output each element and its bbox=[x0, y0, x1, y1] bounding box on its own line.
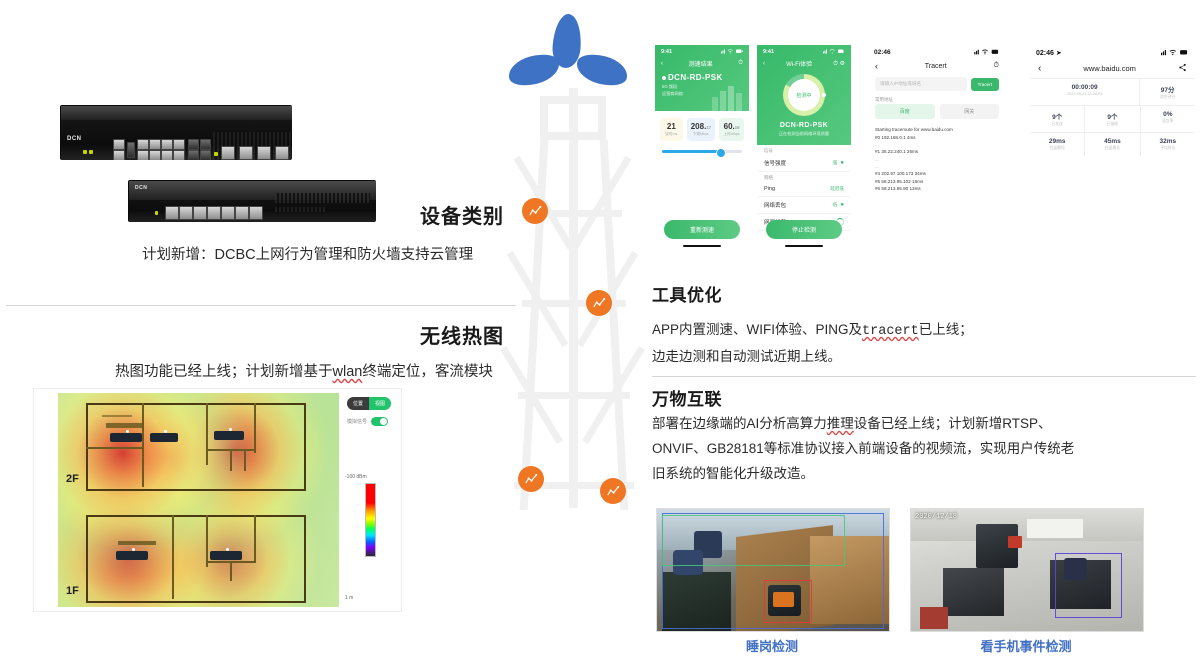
detection-box-sleeping-person bbox=[764, 580, 812, 623]
chart-analytics-badge-3[interactable] bbox=[518, 466, 544, 492]
caption-phone-usage-detection: 看手机事件检测 bbox=[910, 636, 1142, 655]
section-title-wireless-heatmap: 无线热图 bbox=[204, 320, 504, 349]
detection-box-phone-user bbox=[1055, 553, 1122, 618]
ai-detection-image-phone: 2020/12/18 bbox=[910, 508, 1144, 632]
chart-analytics-icon bbox=[606, 484, 620, 498]
dcn-logo: DCN bbox=[67, 136, 82, 142]
chart-analytics-icon bbox=[528, 204, 542, 218]
iot-line1-a: 部署在边缘端的AI分析高算力 bbox=[652, 416, 827, 431]
iot-line3: 旧系统的智能化升级改造。 bbox=[652, 462, 1200, 487]
iot-line2: ONVIF、GB28181等标准协议接入前端设备的视频流，实现用户传统老 bbox=[652, 437, 1200, 462]
legend-max-label: -100 dBm bbox=[345, 474, 367, 480]
section-title-device-category: 设备类别 bbox=[204, 200, 504, 229]
ap-marker bbox=[110, 433, 142, 442]
right-column: 工具优化 APP内置测速、WIFI体验、PING及tracert已上线； 边走边… bbox=[648, 0, 1200, 656]
toggle-option-view[interactable]: 视图 bbox=[369, 397, 391, 410]
wireless-heatmap-screenshot[interactable]: 2F 1F 位置 视图 模拟信号 -100 dBm - bbox=[33, 388, 402, 612]
heatmap-body-prefix: 热图功能已经上线；计划新增基于 bbox=[115, 364, 333, 380]
simulated-signal-row[interactable]: 模拟信号 bbox=[347, 417, 388, 426]
simulated-signal-toggle[interactable] bbox=[371, 417, 388, 426]
floor-label-2f: 2F bbox=[66, 473, 79, 485]
chart-analytics-badge-4[interactable] bbox=[600, 478, 626, 504]
section-body-iot: 部署在边缘端的AI分析高算力推理设备已经上线；计划新增RTSP、 ONVIF、G… bbox=[652, 412, 1200, 487]
toggle-option-position[interactable]: 位置 bbox=[347, 397, 369, 410]
signal-tower-graphic bbox=[500, 0, 650, 530]
ap-marker bbox=[150, 433, 178, 442]
heatmap-body-underlined: wlan bbox=[333, 364, 363, 380]
ap-marker bbox=[116, 551, 148, 560]
left-column: DCN DCN bbox=[0, 0, 540, 656]
floor-label-1f: 1F bbox=[66, 585, 79, 597]
section-title-tool-optimization: 工具优化 bbox=[652, 281, 722, 306]
chart-analytics-badge-2[interactable] bbox=[586, 290, 612, 316]
tool-line1-c: 已上线； bbox=[919, 322, 973, 337]
tool-line1-tracert: tracert bbox=[862, 324, 919, 339]
scale-note: 1 m bbox=[345, 595, 353, 601]
iot-line1-c: 设备已经上线；计划新增RTSP、 bbox=[854, 416, 1052, 431]
heatmap-view-toggle[interactable]: 位置 视图 bbox=[347, 397, 391, 410]
simulated-signal-label: 模拟信号 bbox=[347, 418, 367, 425]
ap-marker bbox=[210, 551, 242, 560]
chart-analytics-icon bbox=[524, 472, 538, 486]
chart-analytics-icon bbox=[592, 296, 606, 310]
heatmap-canvas: 2F 1F bbox=[58, 393, 339, 607]
overlay-timestamp: 2020/12/18 bbox=[915, 513, 957, 521]
tool-line2: 边走边测和自动测试近期上线。 bbox=[652, 345, 1192, 370]
right-divider bbox=[652, 376, 1196, 377]
ap-marker bbox=[214, 431, 244, 440]
iot-line1-inference: 推理 bbox=[827, 416, 854, 431]
chart-analytics-badge-1[interactable] bbox=[522, 198, 548, 224]
tool-line1-a: APP内置测速、WIFI体验、PING及 bbox=[652, 322, 862, 337]
signal-colorbar bbox=[365, 483, 376, 557]
heatmap-body-suffix: 终端定位，客流模块 bbox=[362, 364, 493, 380]
section-body-wireless-heatmap: 热图功能已经上线；计划新增基于wlan终端定位，客流模块 bbox=[115, 360, 545, 385]
dcn-logo-2: DCN bbox=[135, 185, 147, 191]
ai-detection-image-sleep bbox=[656, 508, 890, 632]
signal-petal-left bbox=[505, 50, 562, 90]
left-divider bbox=[6, 305, 516, 306]
section-body-tool-optimization: APP内置测速、WIFI体验、PING及tracert已上线； 边走边测和自动测… bbox=[652, 318, 1192, 370]
heatmap-control-panel: 位置 视图 模拟信号 -100 dBm - - - 1 m bbox=[339, 389, 401, 611]
section-body-device-category: 计划新增：DCBC上网行为管理和防火墙支持云管理 bbox=[142, 243, 542, 268]
detection-box-region bbox=[662, 515, 845, 566]
router-photo-top: DCN bbox=[60, 105, 292, 160]
caption-sleep-detection: 睡岗检测 bbox=[656, 636, 888, 655]
section-title-iot: 万物互联 bbox=[652, 385, 722, 410]
signal-petal-right bbox=[573, 50, 630, 90]
